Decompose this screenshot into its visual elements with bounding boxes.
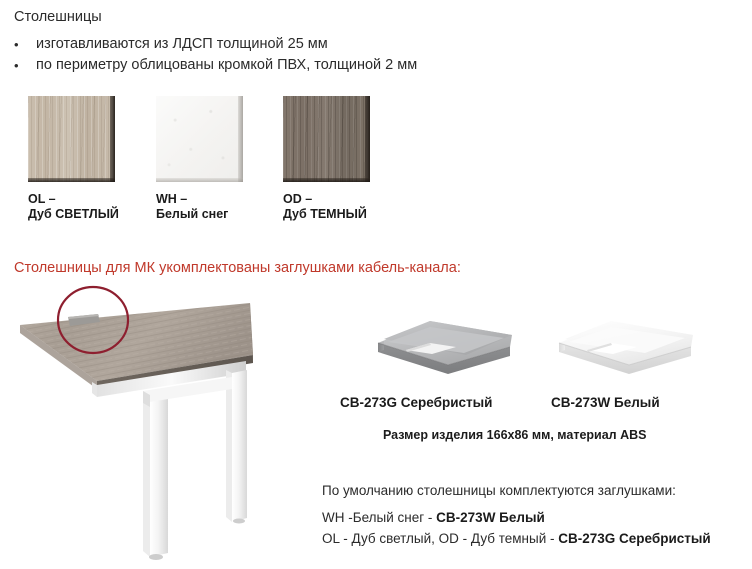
wood-grain-texture bbox=[28, 96, 115, 182]
config-ol-od-cap: CB-273G Серебристый bbox=[558, 531, 710, 546]
speckle-texture bbox=[156, 96, 243, 182]
cap-image-silver bbox=[370, 303, 520, 381]
bullet-icon: • bbox=[14, 34, 36, 55]
swatch-image-wh bbox=[156, 96, 243, 182]
swatch-caption-wh: WH – Белый снег bbox=[156, 192, 243, 222]
swatch-item-wh[interactable]: WH – Белый снег bbox=[156, 96, 243, 222]
cap-caption-white: CB-273W Белый bbox=[551, 395, 660, 410]
swatch-code: OD – bbox=[283, 192, 370, 207]
config-wh-cap: CB-273W Белый bbox=[436, 510, 545, 525]
desk-illustration bbox=[0, 285, 312, 569]
spec-list: • изготавливаются из ЛДСП толщиной 25 мм… bbox=[14, 34, 534, 76]
default-config-line-ol-od: OL - Дуб светлый, OD - Дуб темный - CB-2… bbox=[322, 528, 752, 549]
desk-frame bbox=[92, 361, 247, 560]
swatch-code: WH – bbox=[156, 192, 243, 207]
wood-grain-texture bbox=[283, 96, 370, 182]
config-ol-od-prefix: OL - Дуб светлый, OD - Дуб темный - bbox=[322, 531, 558, 546]
default-config-line-wh: WH -Белый снег - CB-273W Белый bbox=[322, 507, 752, 528]
swatch-name: Дуб СВЕТЛЫЙ bbox=[28, 207, 115, 222]
swatch-caption-od: OD – Дуб ТЕМНЫЙ bbox=[283, 192, 370, 222]
swatch-image-od bbox=[283, 96, 370, 182]
swatch-code: OL – bbox=[28, 192, 115, 207]
config-wh-prefix: WH -Белый снег - bbox=[322, 510, 436, 525]
spec-item: • по периметру облицованы кромкой ПВХ, т… bbox=[14, 55, 534, 76]
board-edge bbox=[28, 178, 115, 182]
swatch-caption-ol: OL – Дуб СВЕТЛЫЙ bbox=[28, 192, 115, 222]
swatch-name: Белый снег bbox=[156, 207, 243, 222]
cap-caption-silver: CB-273G Серебристый bbox=[340, 395, 492, 410]
default-config-block: По умолчанию столешницы комплектуются за… bbox=[322, 480, 752, 549]
swatch-image-ol bbox=[28, 96, 115, 182]
swatch-name: Дуб ТЕМНЫЙ bbox=[283, 207, 370, 222]
page-title: Столешницы bbox=[14, 8, 102, 26]
board-edge bbox=[156, 178, 243, 182]
spec-item: • изготавливаются из ЛДСП толщиной 25 мм bbox=[14, 34, 534, 55]
board-edge bbox=[283, 178, 370, 182]
cap-image-white bbox=[551, 303, 701, 381]
spec-item-text: изготавливаются из ЛДСП толщиной 25 мм bbox=[36, 34, 328, 55]
cap-size-note: Размер изделия 166x86 мм, материал ABS bbox=[383, 428, 646, 442]
spec-item-text: по периметру облицованы кромкой ПВХ, тол… bbox=[36, 55, 417, 76]
material-swatch-row: OL – Дуб СВЕТЛЫЙ WH – Белый снег OD – Ду… bbox=[28, 96, 373, 226]
swatch-item-od[interactable]: OD – Дуб ТЕМНЫЙ bbox=[283, 96, 370, 222]
default-config-intro: По умолчанию столешницы комплектуются за… bbox=[322, 480, 752, 501]
cable-channel-heading: Столешницы для МК укомплектованы заглушк… bbox=[14, 258, 461, 278]
bullet-icon: • bbox=[14, 55, 36, 76]
swatch-item-ol[interactable]: OL – Дуб СВЕТЛЫЙ bbox=[28, 96, 115, 222]
